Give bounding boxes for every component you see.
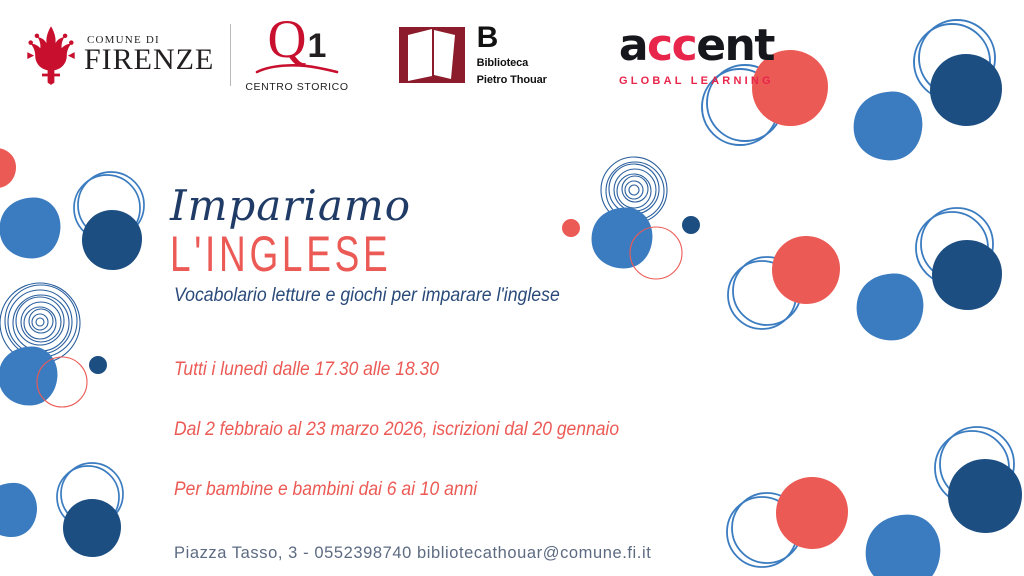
- logo-firenze-line2: FIRENZE: [84, 45, 214, 75]
- main-text-block: Impariamo L'INGLESE Vocabolario letture …: [168, 185, 788, 563]
- logo-biblioteca-pietro-thouar: B Biblioteca Pietro Thouar: [395, 23, 547, 87]
- logo-biblioteca-line2: Pietro Thouar: [477, 74, 547, 87]
- logo-divider: [230, 24, 231, 86]
- accent-word-end: ent: [696, 20, 774, 71]
- logo-q1-number: 1: [308, 31, 327, 62]
- q1-swoosh-icon: [255, 63, 339, 75]
- decor-left-spiral-cluster: [0, 283, 107, 407]
- decor-left-top: [0, 148, 144, 270]
- info-line-dates: Dal 2 febbraio al 23 marzo 2026, iscrizi…: [174, 419, 739, 441]
- logo-bar: COMUNE DI FIRENZE Q 1 CENTRO STORICO: [0, 0, 1024, 110]
- info-line-ages: Per bambine e bambini dai 6 ai 10 anni: [174, 479, 739, 501]
- logo-biblioteca-line1: Biblioteca: [477, 57, 547, 70]
- decor-left-bottom: [0, 463, 123, 557]
- logo-q1-centro-storico: Q 1 CENTRO STORICO: [245, 17, 348, 92]
- fleur-de-lis-icon: [22, 24, 80, 86]
- spiral-icon-left: [0, 283, 80, 363]
- accent-word-middle: cc: [647, 20, 696, 71]
- logo-q1-caption: CENTRO STORICO: [245, 81, 348, 93]
- decor-ring-pair-right-d: [916, 208, 993, 284]
- title-main: L'INGLESE: [170, 229, 627, 279]
- title-script: Impariamo: [170, 185, 788, 227]
- logo-comune-di-firenze: COMUNE DI FIRENZE: [22, 24, 214, 86]
- decor-ring-pair-left-a: [74, 172, 144, 241]
- logo-accent-global-learning: accent GLOBAL LEARNING: [619, 24, 774, 87]
- accent-word-start: a: [619, 20, 647, 71]
- logo-q1-letter: Q: [268, 17, 307, 61]
- decor-ring-pair-right-f: [935, 427, 1014, 505]
- logo-biblioteca-initial: B: [477, 23, 547, 53]
- subtitle: Vocabolario letture e giochi per imparar…: [174, 285, 745, 307]
- info-line-schedule: Tutti i lunedì dalle 17.30 alle 18.30: [174, 359, 739, 381]
- accent-tagline: GLOBAL LEARNING: [619, 75, 774, 87]
- open-book-mark-icon: [395, 24, 469, 86]
- footer-contact: Piazza Tasso, 3 - 0552398740 bibliotecat…: [174, 543, 770, 563]
- poster-canvas: COMUNE DI FIRENZE Q 1 CENTRO STORICO: [0, 0, 1024, 576]
- decor-ring-pair-left-b: [57, 463, 123, 528]
- accent-wordmark: accent: [619, 24, 774, 68]
